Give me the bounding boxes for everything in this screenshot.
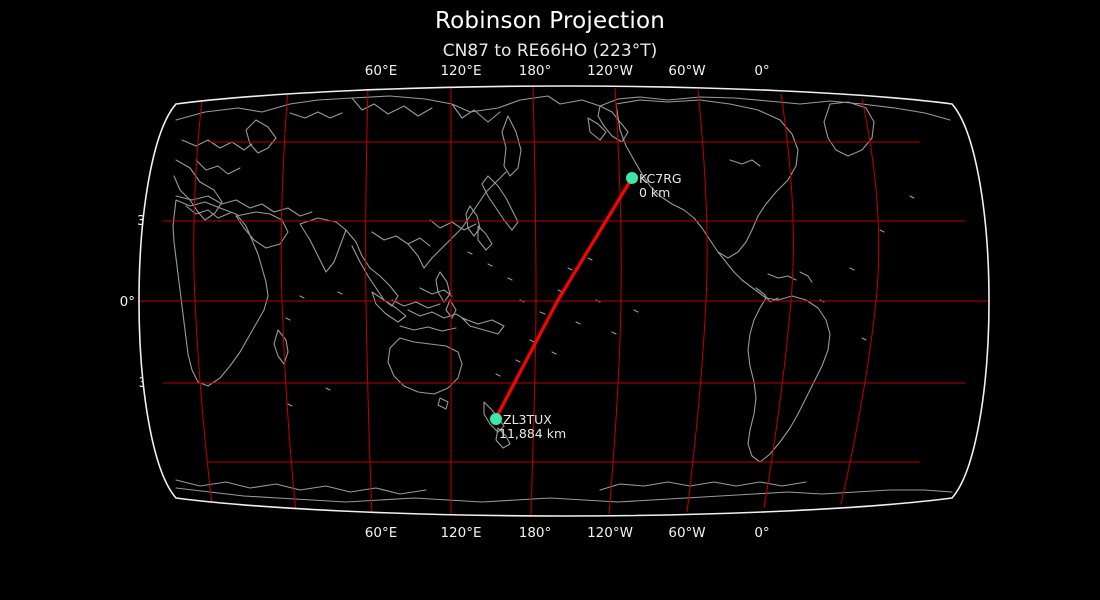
- station-label-kc7rg: KC7RG 0 km: [639, 172, 682, 200]
- map-canvas: Robinson Projection CN87 to RE66HO (223°…: [0, 0, 1100, 600]
- station-marker-kc7rg[interactable]: [626, 172, 638, 184]
- robinson-world-map: [0, 0, 1100, 600]
- station-marker-zl3tux[interactable]: [490, 413, 502, 425]
- station-label-zl3tux: ZL3TUX 11,884 km: [503, 413, 566, 441]
- map-interior: [130, 80, 1000, 525]
- station-distance-kc7rg: 0 km: [639, 186, 682, 200]
- station-distance-zl3tux: 11,884 km: [499, 427, 566, 441]
- station-callsign-kc7rg: KC7RG: [639, 172, 682, 186]
- station-callsign-zl3tux: ZL3TUX: [503, 413, 566, 427]
- ocean-fill: [130, 80, 1000, 525]
